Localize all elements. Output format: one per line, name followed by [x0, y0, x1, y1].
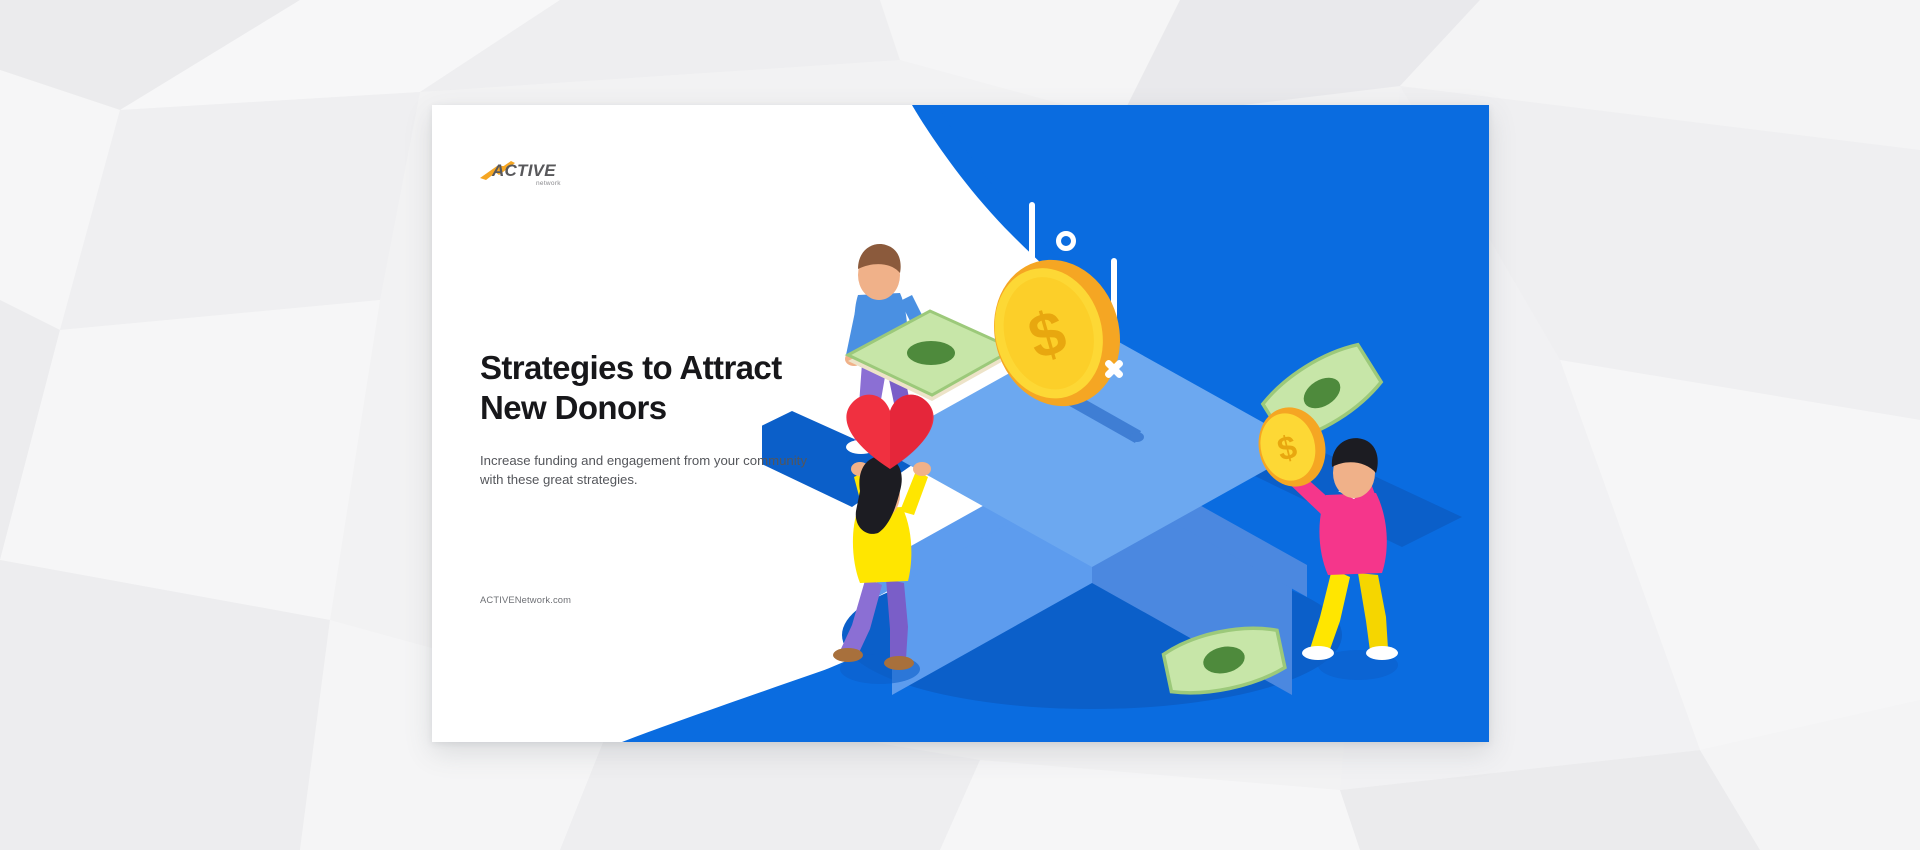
ebook-cover-card[interactable]: $ [432, 105, 1489, 742]
footer-url[interactable]: ACTIVENetwork.com [480, 594, 571, 605]
logo-sub-wordmark: network [536, 180, 561, 187]
logo-wordmark: ACTIVE [491, 161, 556, 180]
page-title: Strategies to Attract New Donors [480, 348, 910, 429]
page-root: $ [0, 0, 1920, 850]
active-network-logo[interactable]: ACTIVE network [480, 155, 572, 189]
cover-text-block: Strategies to Attract New Donors Increas… [480, 348, 910, 489]
page-subtitle: Increase funding and engagement from you… [480, 451, 910, 489]
